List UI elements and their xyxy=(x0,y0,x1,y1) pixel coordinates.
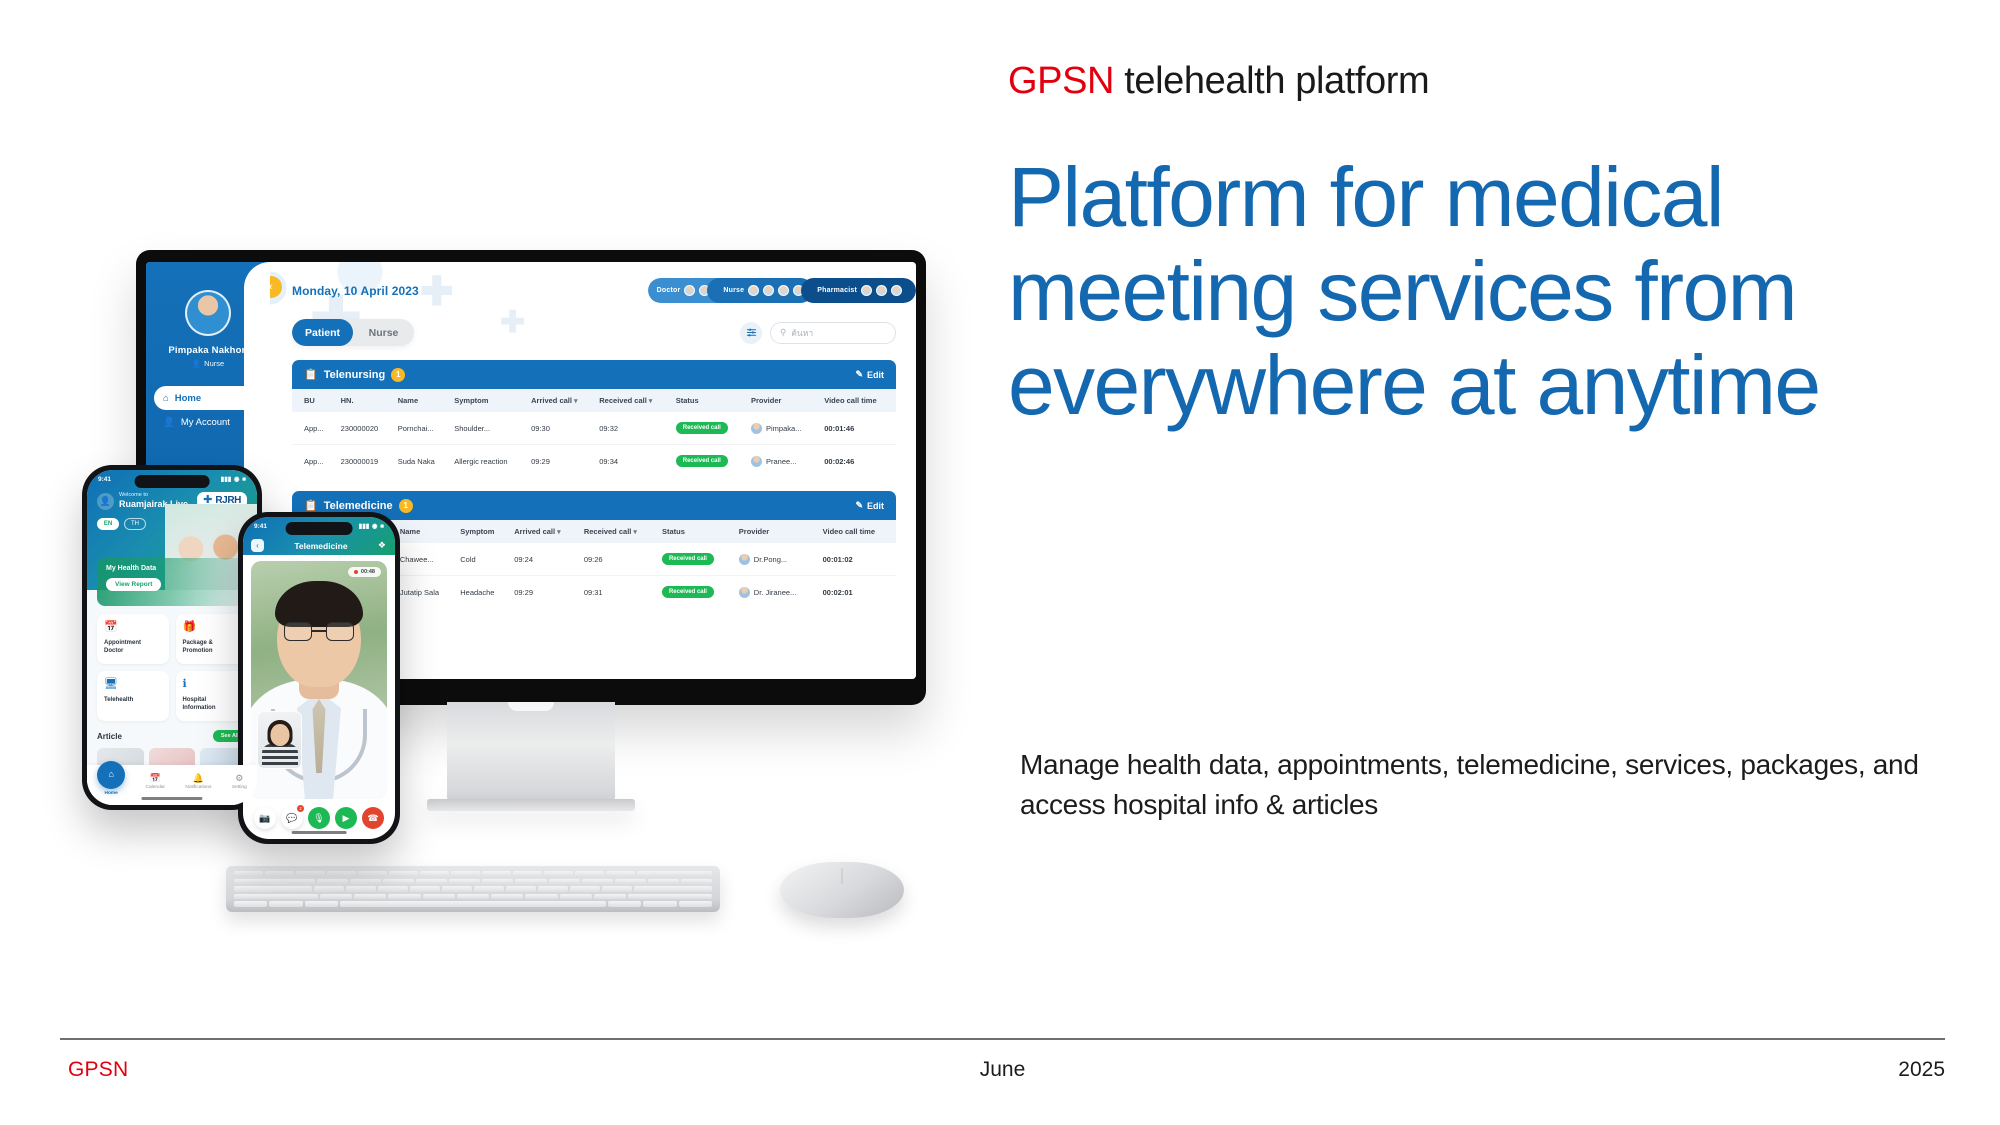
status-time: 9:41 xyxy=(254,523,267,530)
page-title: Platform for medical meeting services fr… xyxy=(1008,150,1908,432)
pencil-icon: ✎ xyxy=(855,369,863,380)
pip-body xyxy=(262,744,298,768)
welcome-small: Welcome to xyxy=(119,492,188,499)
cell-symptom: Shoulder... xyxy=(450,412,527,445)
tab-nurse[interactable]: Nurse xyxy=(353,319,414,346)
tabbar-label: Setting xyxy=(232,785,247,790)
monitor-stand-neck xyxy=(447,702,615,802)
recording-time-label: 00:48 xyxy=(361,569,375,575)
cell-arrived: 09:29 xyxy=(527,445,595,478)
status-badge: Received call xyxy=(676,422,728,434)
cell-provider: Dr. Jiranee... xyxy=(735,576,819,609)
view-report-button[interactable]: View Report xyxy=(106,578,161,591)
chevron-down-icon: ▾ xyxy=(633,529,637,536)
record-dot-icon xyxy=(354,570,358,574)
home-indicator xyxy=(141,797,202,800)
keyboard-row xyxy=(234,886,712,892)
calendar-doctor-icon: 📅 xyxy=(104,622,162,633)
keyboard-row xyxy=(234,871,712,877)
col-provider: Provider xyxy=(735,520,819,543)
keyboard-row xyxy=(234,894,712,900)
home-icon: ⌂ xyxy=(163,393,169,404)
current-date-label: Monday, 10 April 2023 xyxy=(292,284,419,298)
panel-telenursing-edit-button[interactable]: ✎ Edit xyxy=(855,369,884,380)
video-call-stage: 00:48 xyxy=(251,561,387,799)
keyboard xyxy=(226,866,720,912)
tile-label: Hospital Information xyxy=(183,697,241,713)
cell-bu: App... xyxy=(292,445,337,478)
pip-head xyxy=(270,724,289,746)
gear-icon: ⚙ xyxy=(232,774,247,783)
camera-button[interactable]: 📷 xyxy=(254,807,276,829)
status-time: 9:41 xyxy=(98,476,111,483)
col-received-call[interactable]: Received call▾ xyxy=(580,520,658,543)
avatar xyxy=(684,285,695,296)
col-symptom: Symptom xyxy=(450,389,527,412)
cell-hn: 230000020 xyxy=(337,412,394,445)
chevron-down-icon: ▾ xyxy=(649,398,653,405)
col-arrived-call[interactable]: Arrived call▾ xyxy=(527,389,595,412)
end-call-button[interactable]: ☎ xyxy=(362,807,384,829)
tabbar-item-setting[interactable]: ⚙ Setting xyxy=(232,774,247,790)
cell-provider: Pimpaka... xyxy=(747,412,820,445)
badge-icon: 👤 xyxy=(192,359,201,368)
col-name: Name xyxy=(396,520,456,543)
cell-video-time: 00:02:01 xyxy=(819,576,896,609)
panel-telenursing-title-label: Telenursing xyxy=(324,369,386,381)
phone-telemedicine-screen: 9:41 ▮▮▮ ◉ ■ ‹ Telemedicine ❖ 00:48 xyxy=(243,517,395,839)
search-placeholder: ค้นหา xyxy=(791,326,813,340)
battery-icon: ■ xyxy=(380,523,384,530)
health-data-title: My Health Data xyxy=(106,565,248,572)
panel-telemedicine-badge: 1 xyxy=(399,499,413,513)
video-button[interactable]: ▶ xyxy=(335,807,357,829)
bell-icon: 🔔 xyxy=(185,774,211,783)
col-video-call-time: Video call time xyxy=(819,520,896,543)
signal-icon: ▮▮▮ xyxy=(359,522,370,530)
col-provider: Provider xyxy=(747,389,820,412)
avatar xyxy=(891,285,902,296)
tabbar-label: Notifications xyxy=(185,785,211,790)
edit-label: Edit xyxy=(867,370,884,380)
tabbar-label: Home xyxy=(97,791,125,796)
avatar xyxy=(876,285,887,296)
footer: GPSN June 2025 xyxy=(60,1058,1945,1098)
col-bu: BU xyxy=(292,389,337,412)
app-topbar: Monday, 10 April 2023 Doctor Nurse xyxy=(270,262,916,303)
cell-symptom: Headache xyxy=(456,576,510,609)
call-controls: 📷 💬2 🎙 ▶ ☎ xyxy=(243,807,395,829)
chevron-down-icon: ▾ xyxy=(557,529,561,536)
avatar xyxy=(778,285,789,296)
phone-patient-home-screen: 9:41 ▮▮▮ ◉ ■ 👤 Welcome to xyxy=(87,470,257,805)
search-input[interactable]: ⚲ ค้นหา xyxy=(770,322,896,344)
edit-label: Edit xyxy=(867,501,884,511)
tile-label: Appointment Doctor xyxy=(104,640,162,656)
col-arrived-call[interactable]: Arrived call▾ xyxy=(510,520,580,543)
role-pill-pharmacist-label: Pharmacist xyxy=(817,287,857,294)
user-icon: 👤 xyxy=(163,417,175,428)
provider-name: Pimpaka... xyxy=(766,424,801,433)
chat-button[interactable]: 💬2 xyxy=(281,807,303,829)
col-received-call[interactable]: Received call▾ xyxy=(595,389,672,412)
cell-symptom: Cold xyxy=(456,543,510,576)
cell-symptom: Allergic reaction xyxy=(450,445,527,478)
col-hn: HN. xyxy=(337,389,394,412)
tile-telehealth[interactable]: 🖥 Telehealth xyxy=(97,671,169,721)
mic-button[interactable]: 🎙 xyxy=(308,807,330,829)
avatar[interactable]: 👤 xyxy=(97,493,114,510)
avatar xyxy=(763,285,774,296)
chat-badge: 2 xyxy=(297,805,304,812)
article-title: Article xyxy=(97,732,122,741)
share-icon[interactable]: ❖ xyxy=(378,540,386,551)
eyebrow-brand: GPSN xyxy=(1008,60,1114,102)
package-icon: 🎁 xyxy=(183,622,241,633)
tile-package-promotion[interactable]: 🎁 Package & Promotion xyxy=(176,614,248,664)
wifi-icon: ◉ xyxy=(372,522,378,530)
chevron-left-icon[interactable]: ‹ xyxy=(251,539,264,552)
cell-video-time: 00:01:02 xyxy=(819,543,896,576)
monitor-stand-foot xyxy=(427,799,635,811)
chevron-down-icon: ▾ xyxy=(574,398,578,405)
mouse xyxy=(780,862,904,918)
tile-label: Package & Promotion xyxy=(183,640,241,656)
cell-arrived: 09:24 xyxy=(510,543,580,576)
text-column: GPSN telehealth platform Platform for me… xyxy=(1008,0,1948,1125)
sidebar-item-home[interactable]: ⌂ Home xyxy=(154,386,262,410)
doctor-hair xyxy=(275,581,363,627)
status-icons: ▮▮▮ ◉ ■ xyxy=(221,475,246,483)
subcopy: Manage health data, appointments, teleme… xyxy=(1020,745,1920,825)
cell-video-time: 00:02:46 xyxy=(820,445,896,478)
tile-hospital-information[interactable]: ℹ Hospital Information xyxy=(176,671,248,721)
home-indicator xyxy=(292,831,347,834)
self-view-pip[interactable] xyxy=(257,711,302,769)
sidebar-item-my-account-label: My Account xyxy=(181,417,230,428)
keyboard-row xyxy=(234,879,712,885)
avatar xyxy=(751,423,762,434)
quick-actions-grid: 📅 Appointment Doctor 🎁 Package & Promoti… xyxy=(97,614,247,721)
tabbar-item-home[interactable]: ⌂ Home xyxy=(97,769,125,796)
lang-th-button[interactable]: TH xyxy=(124,518,146,530)
clipboard-icon: 📋 xyxy=(304,368,318,381)
cell-arrived: 09:30 xyxy=(527,412,595,445)
status-badge: Received call xyxy=(662,553,714,565)
footer-year: 2025 xyxy=(1898,1058,1945,1082)
calendar-icon: 📅 xyxy=(146,774,165,783)
provider-name: Dr. Jiranee... xyxy=(754,588,797,597)
col-symptom: Symptom xyxy=(456,520,510,543)
call-title: Telemedicine xyxy=(294,541,347,551)
status-icons: ▮▮▮ ◉ ■ xyxy=(359,522,384,530)
battery-icon: ■ xyxy=(242,476,246,483)
cell-provider: Pranee... xyxy=(747,445,820,478)
eyebrow: GPSN telehealth platform xyxy=(1008,60,1429,103)
panel-telenursing: 📋 Telenursing 1 ✎ Edit xyxy=(292,360,896,477)
table-header-row: BU HN. Name Symptom Arrived call▾ Receiv… xyxy=(292,389,896,412)
cell-hn: 230000019 xyxy=(337,445,394,478)
role-pill-nurse-label: Nurse xyxy=(723,287,744,294)
avatar xyxy=(751,456,762,467)
col-name: Name xyxy=(394,389,451,412)
panel-telemedicine-edit-button[interactable]: ✎ Edit xyxy=(855,500,884,511)
tabbar-item-notifications[interactable]: 🔔 Notifications xyxy=(185,774,211,790)
status-badge: Received call xyxy=(676,455,728,467)
phone-notch xyxy=(286,522,353,535)
sidebar-avatar xyxy=(185,290,231,336)
cell-video-time: 00:01:46 xyxy=(820,412,896,445)
sidebar-item-my-account[interactable]: 👤 My Account xyxy=(154,410,262,434)
phone-patient-home: 9:41 ▮▮▮ ◉ ■ 👤 Welcome to xyxy=(82,465,262,810)
lang-en-button[interactable]: EN xyxy=(97,518,119,530)
cell-status: Received call xyxy=(658,543,735,576)
cell-bu: App... xyxy=(292,412,337,445)
home-icon: ⌂ xyxy=(97,761,125,789)
cell-received: 09:32 xyxy=(595,412,672,445)
wifi-icon: ◉ xyxy=(234,475,240,483)
article-section-header: Article See All xyxy=(97,730,247,742)
col-status: Status xyxy=(658,520,735,543)
device-mockup-illustration: Pimpaka Nakhon 👤Nurse ⌂ Home 👤 My A xyxy=(0,0,1000,1000)
table-row[interactable]: App... 230000020 Pornchai... Shoulder...… xyxy=(292,412,896,445)
panel-telenursing-title: 📋 Telenursing 1 xyxy=(304,368,405,382)
cell-status: Received call xyxy=(658,576,735,609)
telenursing-table: BU HN. Name Symptom Arrived call▾ Receiv… xyxy=(292,389,896,477)
cell-name: Chawee... xyxy=(396,543,456,576)
phone-notch xyxy=(135,475,210,488)
avatar xyxy=(748,285,759,296)
sidebar-user-role: 👤Nurse xyxy=(146,359,270,368)
cell-name: Suda Naka xyxy=(394,445,451,478)
col-video-call-time: Video call time xyxy=(820,389,896,412)
clipboard-icon: 📋 xyxy=(304,499,318,512)
keyboard-row xyxy=(234,901,712,907)
search-group: ⚲ ค้นหา xyxy=(740,322,896,344)
hospital-info-icon: ℹ xyxy=(183,679,241,690)
filter-sliders-icon[interactable] xyxy=(740,322,762,344)
cell-name: Jutatip Sala xyxy=(396,576,456,609)
glasses-icon xyxy=(284,622,354,641)
cell-received: 09:34 xyxy=(595,445,672,478)
avatar xyxy=(739,587,750,598)
recording-timer: 00:48 xyxy=(348,567,381,577)
tabbar-item-calendar[interactable]: 📅 Calendar xyxy=(146,774,165,790)
eyebrow-rest: telehealth platform xyxy=(1114,60,1429,102)
health-data-card: My Health Data View Report xyxy=(97,558,257,606)
provider-name: Pranee... xyxy=(766,457,796,466)
panel-telemedicine-title-label: Telemedicine xyxy=(324,500,393,512)
panel-telenursing-badge: 1 xyxy=(391,368,405,382)
role-pill-doctor-label: Doctor xyxy=(657,287,681,294)
panel-telemedicine-title: 📋 Telemedicine 1 xyxy=(304,499,413,513)
sidebar-nav: ⌂ Home 👤 My Account xyxy=(146,386,270,434)
pencil-icon: ✎ xyxy=(855,500,863,511)
tab-patient[interactable]: Patient xyxy=(292,319,353,346)
status-badge: Received call xyxy=(662,586,714,598)
avatar xyxy=(739,554,750,565)
cell-status: Received call xyxy=(672,445,747,478)
tile-label: Telehealth xyxy=(104,697,162,705)
slide-root: Pimpaka Nakhon 👤Nurse ⌂ Home 👤 My A xyxy=(0,0,2000,1125)
table-row[interactable]: App... 230000019 Suda Naka Allergic reac… xyxy=(292,445,896,478)
footer-divider xyxy=(60,1038,1945,1040)
sidebar-item-home-label: Home xyxy=(175,393,201,404)
tile-appointment-doctor[interactable]: 📅 Appointment Doctor xyxy=(97,614,169,664)
cell-name: Pornchai... xyxy=(394,412,451,445)
tabbar-label: Calendar xyxy=(146,785,165,790)
role-pill-pharmacist[interactable]: Pharmacist xyxy=(801,278,916,303)
cell-received: 09:26 xyxy=(580,543,658,576)
role-pill-nurse[interactable]: Nurse xyxy=(707,278,813,303)
cell-provider: Dr.Pong... xyxy=(735,543,819,576)
phone-telemedicine-call: 9:41 ▮▮▮ ◉ ■ ‹ Telemedicine ❖ 00:48 xyxy=(238,512,400,844)
cell-arrived: 09:29 xyxy=(510,576,580,609)
tabs-row: Patient Nurse xyxy=(292,319,896,346)
telehealth-icon: 🖥 xyxy=(104,679,162,690)
footer-month: June xyxy=(60,1058,1945,1082)
signal-icon: ▮▮▮ xyxy=(221,475,232,483)
cell-status: Received call xyxy=(672,412,747,445)
avatar xyxy=(861,285,872,296)
search-icon: ⚲ xyxy=(780,327,786,338)
role-pills-group: Doctor Nurse xyxy=(648,278,916,303)
sidebar-user-name: Pimpaka Nakhon xyxy=(146,345,270,356)
panel-telenursing-header: 📋 Telenursing 1 ✎ Edit xyxy=(292,360,896,389)
provider-name: Dr.Pong... xyxy=(754,555,787,564)
col-status: Status xyxy=(672,389,747,412)
segmented-control: Patient Nurse xyxy=(292,319,414,346)
cell-received: 09:31 xyxy=(580,576,658,609)
